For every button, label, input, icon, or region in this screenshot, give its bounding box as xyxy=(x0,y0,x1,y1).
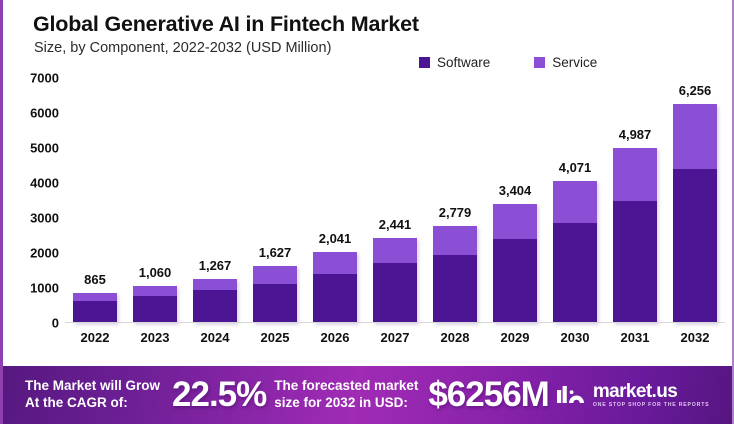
bar-series: 8651,0601,2671,6272,0412,4412,7793,4044,… xyxy=(65,78,725,323)
bar-stack[interactable] xyxy=(313,252,357,323)
bar-stack[interactable] xyxy=(553,181,597,323)
market-us-logo-icon xyxy=(557,383,587,407)
bar-value-label: 2,779 xyxy=(439,205,472,220)
bar-segment-software[interactable] xyxy=(493,239,537,323)
x-axis-tick: 2031 xyxy=(611,330,659,352)
bar-segment-service[interactable] xyxy=(133,286,177,296)
bar-group[interactable]: 1,267 xyxy=(191,78,239,323)
bar-stack[interactable] xyxy=(673,104,717,323)
bar-group[interactable]: 2,041 xyxy=(311,78,359,323)
bar-segment-service[interactable] xyxy=(193,279,237,291)
bar-stack[interactable] xyxy=(253,266,297,323)
y-axis-tick: 5000 xyxy=(7,141,59,156)
x-axis-tick: 2026 xyxy=(311,330,359,352)
y-axis-tick: 0 xyxy=(7,316,59,331)
x-axis-tick: 2032 xyxy=(671,330,719,352)
brand-name: market.us xyxy=(593,382,710,401)
cagr-label-line2: At the CAGR of: xyxy=(25,395,160,412)
legend-label-software: Software xyxy=(437,55,490,70)
bar-group[interactable]: 2,779 xyxy=(431,78,479,323)
bar-group[interactable]: 2,441 xyxy=(371,78,419,323)
bar-segment-software[interactable] xyxy=(253,284,297,323)
y-axis-tick: 4000 xyxy=(7,176,59,191)
bar-segment-service[interactable] xyxy=(313,252,357,275)
forecast-label-line1: The forecasted market xyxy=(274,378,418,395)
bar-segment-software[interactable] xyxy=(193,290,237,323)
bar-segment-software[interactable] xyxy=(73,301,117,323)
x-axis: 2022202320242025202620272028202920302031… xyxy=(65,330,725,352)
bar-segment-service[interactable] xyxy=(553,181,597,224)
legend-item-service: Service xyxy=(534,55,597,70)
bar-segment-software[interactable] xyxy=(313,274,357,323)
bar-stack[interactable] xyxy=(493,204,537,323)
bar-value-label: 1,060 xyxy=(139,265,172,280)
x-axis-tick: 2027 xyxy=(371,330,419,352)
bar-stack[interactable] xyxy=(373,238,417,323)
cagr-value: 22.5% xyxy=(172,375,266,415)
bar-stack[interactable] xyxy=(133,286,177,323)
bar-segment-service[interactable] xyxy=(253,266,297,284)
chart-legend: Software Service xyxy=(419,55,597,70)
bar-segment-service[interactable] xyxy=(493,204,537,239)
bar-segment-service[interactable] xyxy=(73,293,117,302)
y-axis: 70006000500040003000200010000 xyxy=(3,78,59,323)
x-axis-tick: 2030 xyxy=(551,330,599,352)
legend-swatch-service xyxy=(534,57,545,68)
bar-segment-software[interactable] xyxy=(553,223,597,323)
forecast-label-line2: size for 2032 in USD: xyxy=(274,395,418,412)
bar-segment-service[interactable] xyxy=(433,226,477,256)
bar-segment-service[interactable] xyxy=(373,238,417,263)
bar-value-label: 6,256 xyxy=(679,83,712,98)
bar-segment-service[interactable] xyxy=(673,104,717,169)
x-axis-tick: 2024 xyxy=(191,330,239,352)
bar-segment-software[interactable] xyxy=(433,255,477,323)
x-axis-tick: 2029 xyxy=(491,330,539,352)
brand-text: market.us ONE STOP SHOP FOR THE REPORTS xyxy=(593,382,710,408)
bar-stack[interactable] xyxy=(193,279,237,323)
axis-baseline xyxy=(65,322,725,323)
bar-group[interactable]: 1,627 xyxy=(251,78,299,323)
chart-header: Global Generative AI in Fintech Market S… xyxy=(3,0,734,76)
bar-segment-software[interactable] xyxy=(133,296,177,323)
plot-area: 8651,0601,2671,6272,0412,4412,7793,4044,… xyxy=(65,78,725,323)
bar-segment-software[interactable] xyxy=(373,263,417,323)
cagr-label: The Market will Grow At the CAGR of: xyxy=(25,378,160,412)
bar-group[interactable]: 3,404 xyxy=(491,78,539,323)
y-axis-tick: 1000 xyxy=(7,281,59,296)
bar-value-label: 4,987 xyxy=(619,127,652,142)
chart-subtitle: Size, by Component, 2022-2032 (USD Milli… xyxy=(34,40,331,56)
bar-segment-service[interactable] xyxy=(613,148,657,200)
bar-value-label: 3,404 xyxy=(499,183,532,198)
forecast-label: The forecasted market size for 2032 in U… xyxy=(274,378,418,412)
bar-stack[interactable] xyxy=(613,148,657,323)
legend-item-software: Software xyxy=(419,55,490,70)
bar-segment-software[interactable] xyxy=(673,169,717,323)
bar-value-label: 2,041 xyxy=(319,231,352,246)
cagr-label-line1: The Market will Grow xyxy=(25,378,160,395)
chart-infographic: Global Generative AI in Fintech Market S… xyxy=(0,0,734,424)
bar-segment-software[interactable] xyxy=(613,201,657,323)
bar-value-label: 4,071 xyxy=(559,160,592,175)
y-axis-tick: 6000 xyxy=(7,106,59,121)
bar-stack[interactable] xyxy=(73,293,117,323)
x-axis-tick: 2025 xyxy=(251,330,299,352)
bar-group[interactable]: 4,987 xyxy=(611,78,659,323)
bar-stack[interactable] xyxy=(433,226,477,323)
summary-banner: The Market will Grow At the CAGR of: 22.… xyxy=(3,366,734,424)
bar-value-label: 2,441 xyxy=(379,217,412,232)
page-title: Global Generative AI in Fintech Market xyxy=(33,12,419,37)
y-axis-tick: 7000 xyxy=(7,71,59,86)
legend-swatch-software xyxy=(419,57,430,68)
x-axis-tick: 2023 xyxy=(131,330,179,352)
brand-tagline: ONE STOP SHOP FOR THE REPORTS xyxy=(593,403,710,408)
bar-group[interactable]: 1,060 xyxy=(131,78,179,323)
bar-group[interactable]: 865 xyxy=(71,78,119,323)
bar-value-label: 1,267 xyxy=(199,258,232,273)
bar-value-label: 1,627 xyxy=(259,245,292,260)
y-axis-tick: 2000 xyxy=(7,246,59,261)
bar-group[interactable]: 6,256 xyxy=(671,78,719,323)
brand-logo: market.us ONE STOP SHOP FOR THE REPORTS xyxy=(557,382,710,408)
bar-value-label: 865 xyxy=(84,272,106,287)
bar-group[interactable]: 4,071 xyxy=(551,78,599,323)
forecast-value: $6256M xyxy=(428,375,548,415)
x-axis-tick: 2022 xyxy=(71,330,119,352)
legend-label-service: Service xyxy=(552,55,597,70)
y-axis-tick: 3000 xyxy=(7,211,59,226)
x-axis-tick: 2028 xyxy=(431,330,479,352)
